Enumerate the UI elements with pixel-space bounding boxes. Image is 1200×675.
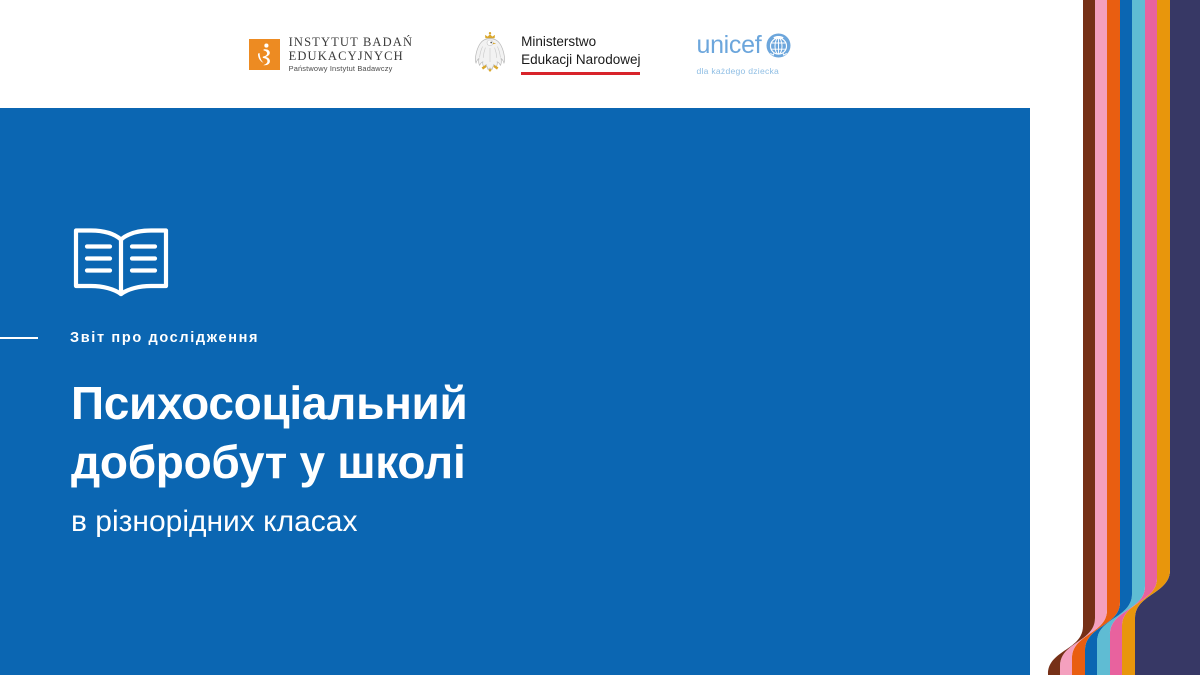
open-book-icon [71,226,171,298]
ibe-mark-icon [249,39,280,70]
eyebrow-rule [0,337,38,339]
unicef-logo: unicef dla każdego dziecka [696,33,791,76]
report-cover-slide: INSTYTUT BADAŃ EDUKACYJNYCH Państwowy In… [0,0,1200,675]
unicef-globe-icon [766,33,791,58]
page-title-line-1: Психосоціальний [71,374,711,433]
ibe-logo-line-1: INSTYTUT BADAŃ [289,35,414,49]
eyebrow-row: Звіт про дослідження [0,330,259,346]
ministerstwo-edukacji-narodowej-logo: Ministerstwo Edukacji Narodowej [469,31,640,77]
unicef-wordmark: unicef [696,33,761,58]
page-title-line-2: добробут у школі [71,433,711,492]
polish-eagle-emblem-icon [469,31,511,77]
eyebrow-label: Звіт про дослідження [70,330,259,346]
ibe-logo-line-2: EDUKACYJNYCH [289,49,414,63]
logo-bar: INSTYTUT BADAŃ EDUKACYJNYCH Państwowy In… [0,0,1040,108]
men-logo-red-rule [521,72,640,75]
title-block: Психосоціальний добробут у школі в різно… [71,374,711,541]
men-logo-line-2: Edukacji Narodowej [521,51,640,68]
cover-content: Звіт про дослідження Психосоціальний доб… [0,108,1085,675]
ibe-logo-line-3: Państwowy Instytut Badawczy [289,65,414,73]
unicef-tagline: dla każdego dziecka [696,66,779,76]
page-subtitle: в різнорідних класах [71,502,711,541]
instytut-badan-edukacyjnych-logo: INSTYTUT BADAŃ EDUKACYJNYCH Państwowy In… [249,35,414,74]
men-logo-line-1: Ministerstwo [521,33,640,50]
